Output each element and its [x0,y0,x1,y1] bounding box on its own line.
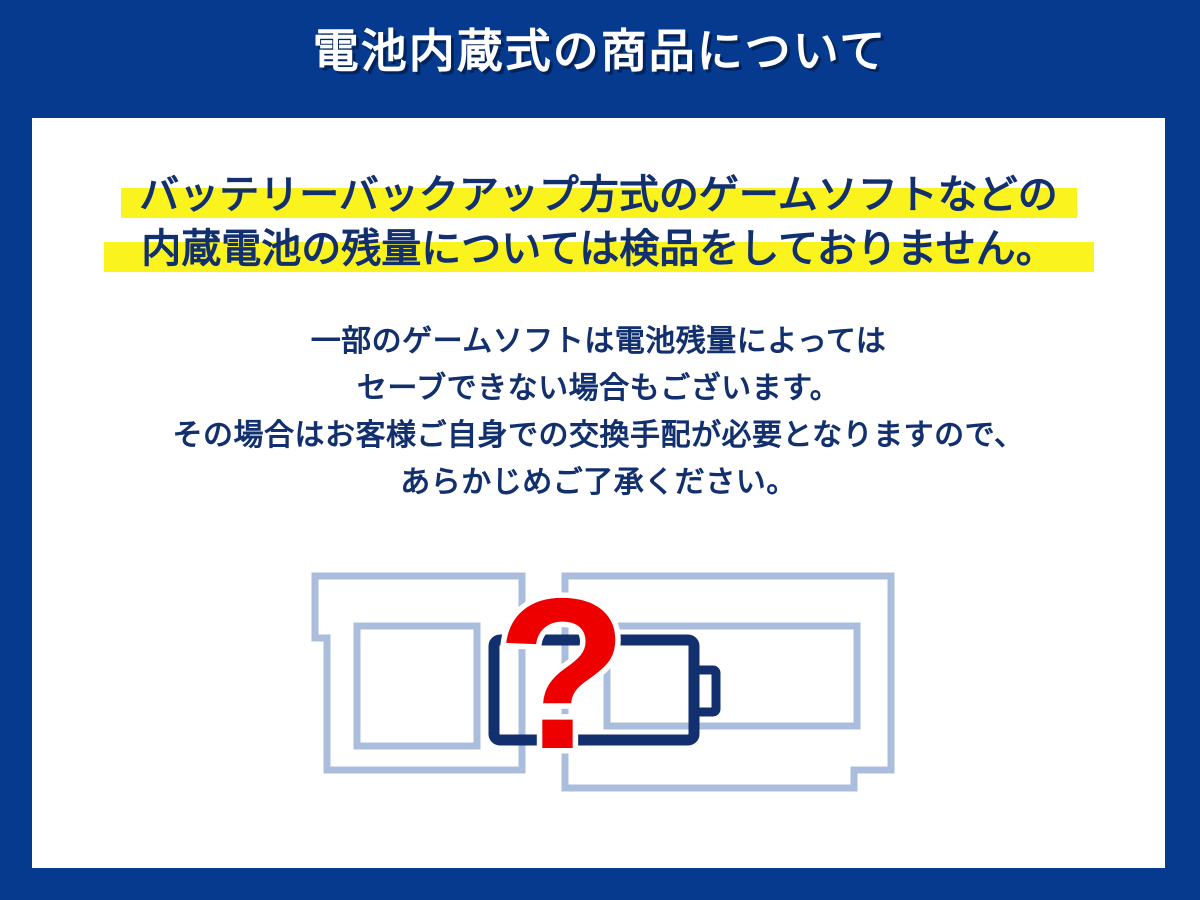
battery-terminal [694,670,716,712]
body-line-2: セーブできない場合もございます。 [32,365,1165,412]
headline-line-2-text: 内蔵電池の残量については検品をしておりません。 [141,222,1055,276]
headline-block: バッテリーバックアップ方式のゲームソフトなどの 内蔵電池の残量については検品をし… [32,168,1165,276]
body-line-4: あらかじめご了承ください。 [32,459,1165,506]
question-mark-icon: ? [496,553,627,794]
body-line-3: その場合はお客様ご自身での交換手配が必要となりますので、 [32,412,1165,459]
battery-notice-slide: 電池内蔵式の商品について バッテリーバックアップ方式のゲームソフトなどの 内蔵電… [0,0,1200,900]
body-block: 一部のゲームソフトは電池残量によっては セーブできない場合もございます。 その場… [32,318,1165,506]
content-panel: バッテリーバックアップ方式のゲームソフトなどの 内蔵電池の残量については検品をし… [32,118,1165,868]
headline-line-1-text: バッテリーバックアップ方式のゲームソフトなどの [139,168,1057,222]
page-title: 電池内蔵式の商品について [0,24,1200,79]
illustration: ? [32,548,1165,808]
cartridge-left-label [357,626,477,746]
question-mark-glyph-text: ? [496,553,627,794]
headline-line-1: バッテリーバックアップ方式のゲームソフトなどの [32,168,1165,222]
body-line-1: 一部のゲームソフトは電池残量によっては [32,318,1165,365]
headline-line-2: 内蔵電池の残量については検品をしておりません。 [32,222,1165,276]
